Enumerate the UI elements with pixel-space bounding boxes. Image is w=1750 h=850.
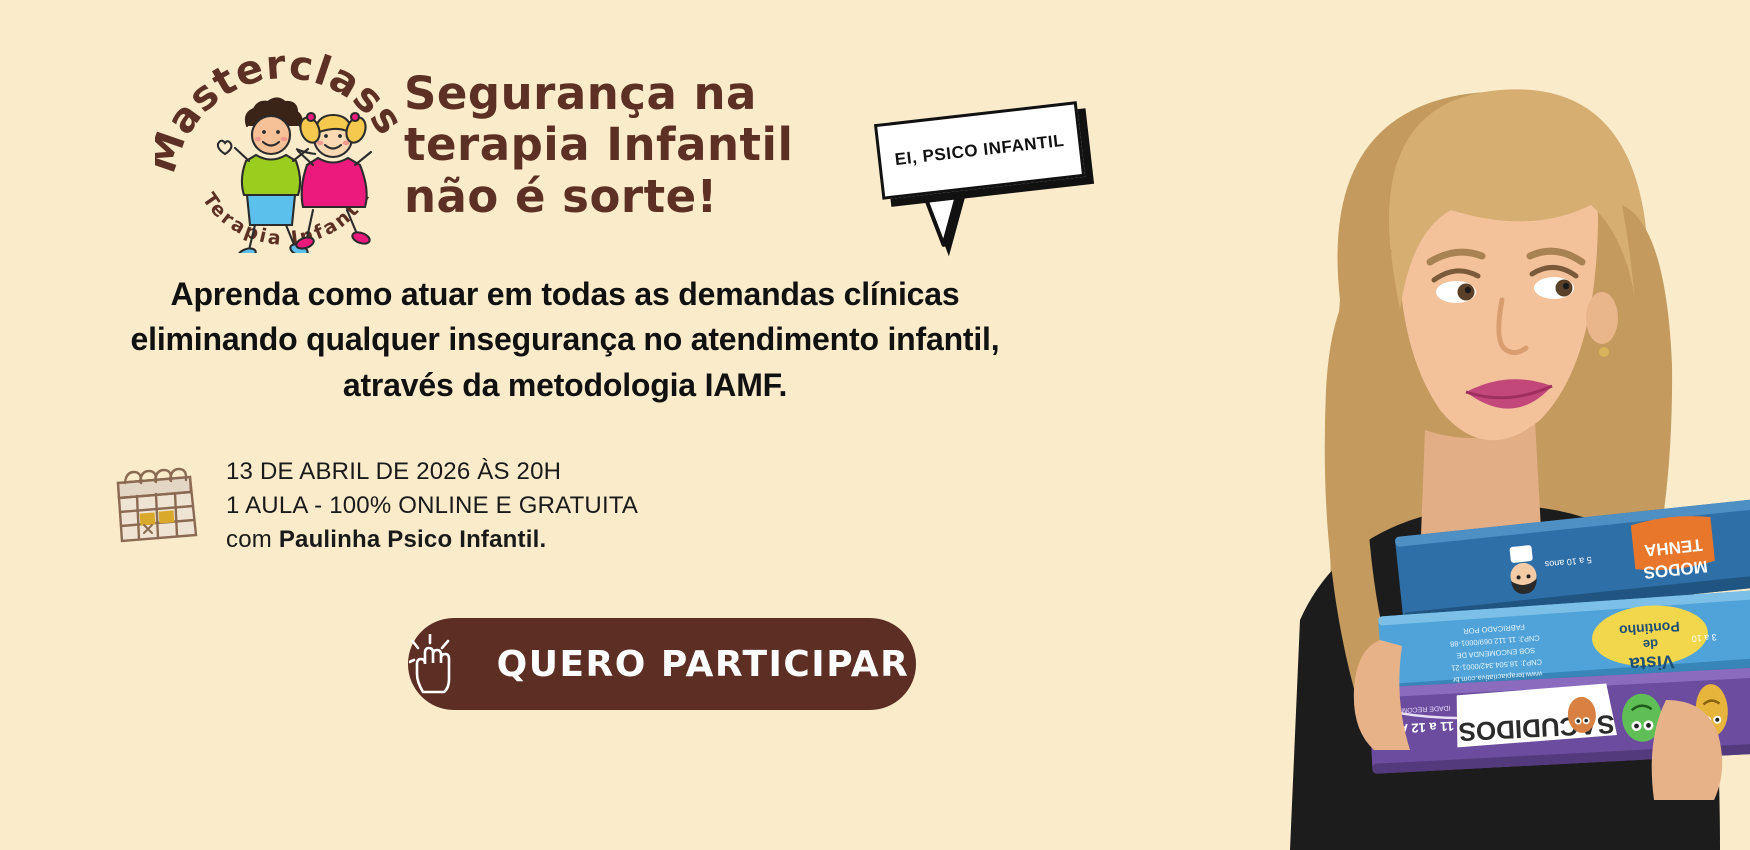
svg-text:3 a 10: 3 a 10 (1691, 632, 1717, 644)
event-format: 1 AULA - 100% ONLINE E GRATUITA (226, 489, 638, 523)
svg-text:Vista: Vista (1628, 650, 1675, 674)
event-host-prefix: com (226, 526, 279, 553)
page-title: Segurança na terapia Infantil não é sort… (404, 68, 824, 222)
promo-banner: Masterclass Terapia Infantil (0, 0, 1750, 850)
subheading: Aprenda como atuar em todas as demandas … (60, 272, 1070, 408)
svg-text:de: de (1642, 636, 1658, 652)
woman-holding-game-boxes-illustration: TENHA MODOS 5 a 10 anos (1230, 0, 1750, 850)
quero-participar-button[interactable]: QUERO PARTICIPAR (408, 618, 916, 710)
subhead-line-1: Aprenda como atuar em todas as demandas … (60, 272, 1070, 317)
event-info-lines: 13 DE ABRIL DE 2026 ÀS 20H 1 AULA - 100%… (226, 455, 638, 557)
headline-line-3: não é sorte! (404, 171, 824, 222)
subhead-line-2: eliminando qualquer insegurança no atend… (60, 317, 1070, 362)
event-host: com Paulinha Psico Infantil. (226, 523, 638, 557)
subhead-line-3: através da metodologia IAMF. (60, 363, 1070, 408)
click-hand-icon (409, 634, 463, 694)
presenter-photo: TENHA MODOS 5 a 10 anos (1230, 0, 1750, 850)
speech-bubble: EI, PSICO INFANTIL (874, 100, 1094, 207)
masterclass-logo: Masterclass Terapia Infantil (155, 38, 410, 253)
headline-line-2: terapia Infantil (404, 119, 824, 170)
headline-line-1: Segurança na (404, 68, 824, 119)
event-host-name: Paulinha Psico Infantil. (279, 526, 547, 553)
logo-illustration: Masterclass Terapia Infantil (155, 38, 410, 253)
event-info: 13 DE ABRIL DE 2026 ÀS 20H 1 AULA - 100%… (108, 455, 668, 557)
calendar-icon (108, 461, 204, 551)
cta-button-label: QUERO PARTICIPAR (497, 644, 910, 685)
event-date: 13 DE ABRIL DE 2026 ÀS 20H (226, 455, 638, 489)
